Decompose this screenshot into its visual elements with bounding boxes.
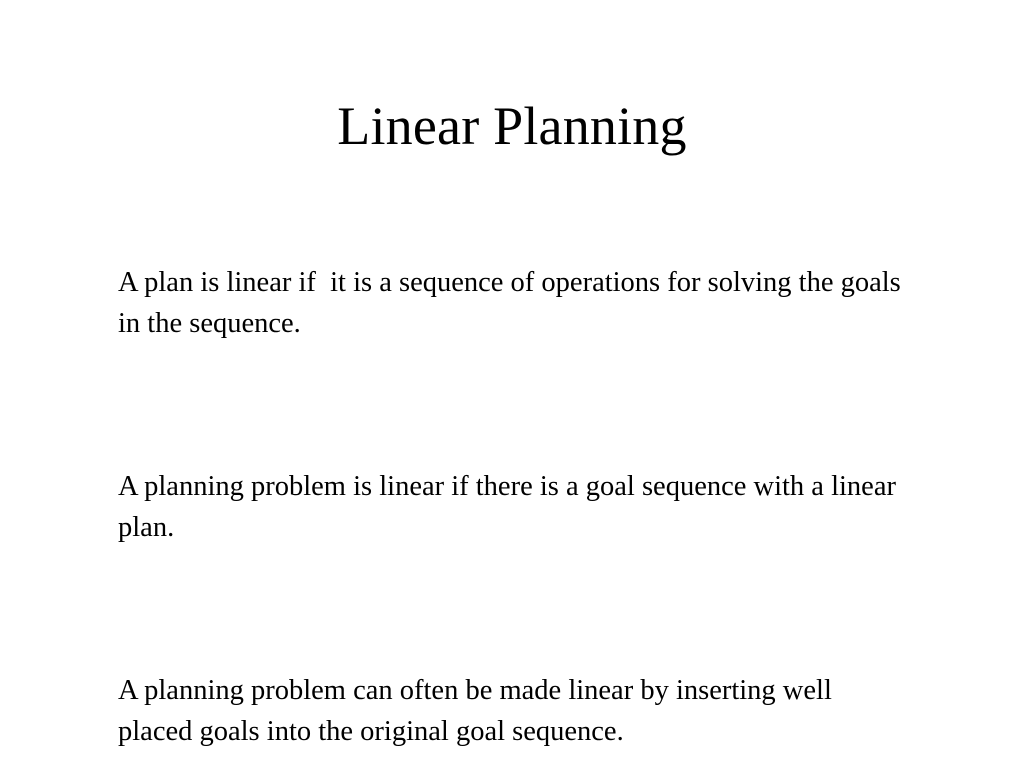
slide-body: A plan is linear if it is a sequence of … [118, 262, 908, 752]
slide: Linear Planning A plan is linear if it i… [0, 0, 1024, 768]
body-paragraph-2: A planning problem is linear if there is… [118, 466, 908, 548]
page-title: Linear Planning [0, 96, 1024, 156]
body-paragraph-1: A plan is linear if it is a sequence of … [118, 262, 908, 344]
body-paragraph-3: A planning problem can often be made lin… [118, 670, 908, 752]
